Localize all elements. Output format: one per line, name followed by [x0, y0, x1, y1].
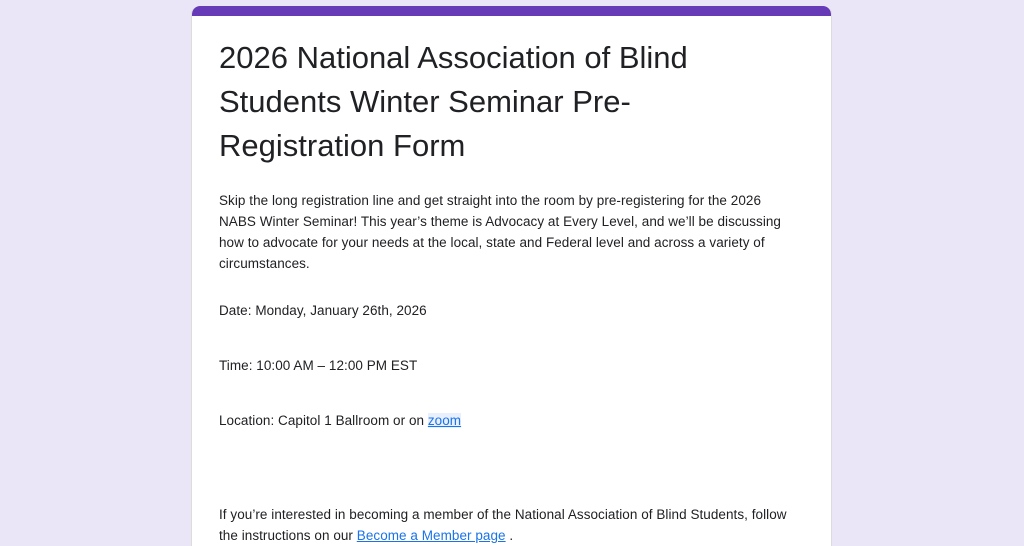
membership-suffix-text: .: [506, 528, 514, 543]
description-spacer-1: [219, 274, 804, 300]
description-time-line: Time: 10:00 AM – 12:00 PM EST: [219, 355, 797, 376]
page-background: 2026 National Association of Blind Stude…: [0, 0, 1024, 537]
form-card-body: 2026 National Association of Blind Stude…: [192, 16, 831, 546]
form-description: Skip the long registration line and get …: [219, 190, 804, 546]
form-accent-bar: [192, 6, 831, 16]
description-spacer-2: [219, 321, 804, 355]
form-title: 2026 National Association of Blind Stude…: [219, 36, 719, 168]
description-membership-paragraph: If you’re interested in becoming a membe…: [219, 504, 797, 546]
zoom-meeting-link[interactable]: zoom: [428, 413, 461, 428]
description-intro-paragraph: Skip the long registration line and get …: [219, 190, 797, 274]
description-location-line: Location: Capitol 1 Ballroom or on zoom: [219, 410, 797, 431]
become-a-member-page-link[interactable]: Become a Member page: [357, 528, 506, 543]
description-spacer-4: [219, 431, 804, 504]
description-date-line: Date: Monday, January 26th, 2026: [219, 300, 797, 321]
location-label-text: Location: Capitol 1 Ballroom or on: [219, 413, 428, 428]
description-spacer-3: [219, 376, 804, 410]
google-form-card: 2026 National Association of Blind Stude…: [191, 6, 832, 546]
